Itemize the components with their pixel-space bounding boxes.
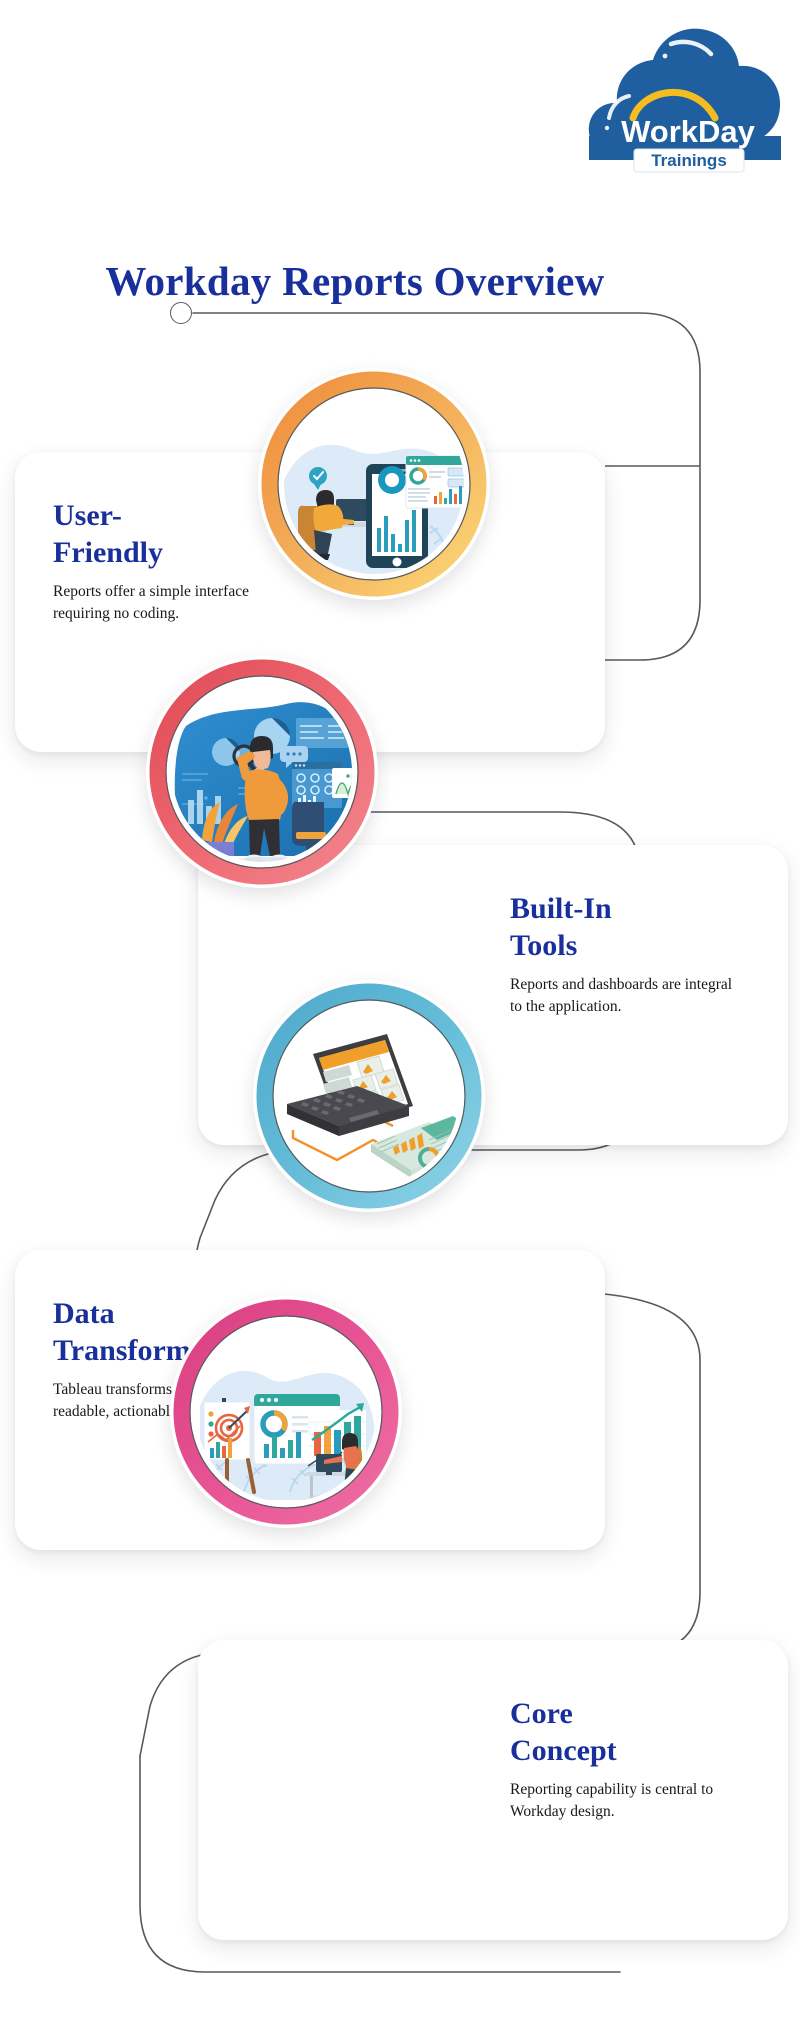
illustration-user-friendly <box>258 368 490 600</box>
infographic-canvas: WorkDay Trainings Workday Reports Overvi… <box>0 0 800 2039</box>
logo-brand-bottom: Trainings <box>651 151 727 170</box>
illustration-data-transformation <box>253 980 485 1212</box>
illustration-core-concept <box>170 1296 402 1528</box>
section-heading: Built-In Tools <box>510 891 740 964</box>
section-heading: User- Friendly <box>53 498 283 571</box>
page-title: Workday Reports Overview <box>90 256 620 306</box>
section-heading: Core Concept <box>510 1696 740 1769</box>
circle-node-icon <box>170 302 192 324</box>
section-body: Reporting capability is central to Workd… <box>510 1779 740 1822</box>
section-text-block: Core Concept Reporting capability is cen… <box>510 1696 740 1822</box>
logo-brand-top: WorkDay <box>621 114 756 149</box>
workday-trainings-logo: WorkDay Trainings <box>587 18 792 178</box>
section-text-block: Built-In Tools Reports and dashboards ar… <box>510 891 740 1017</box>
section-body: Reports and dashboards are integral to t… <box>510 974 740 1017</box>
section-text-block: User- Friendly Reports offer a simple in… <box>53 498 283 624</box>
scene-analytics-desk-charts <box>200 1371 374 1502</box>
section-body: Reports offer a simple interface requiri… <box>53 581 283 624</box>
section-card-core-concept[interactable]: Core Concept Reporting capability is cen… <box>198 1640 788 1940</box>
illustration-built-in-tools <box>146 656 378 888</box>
